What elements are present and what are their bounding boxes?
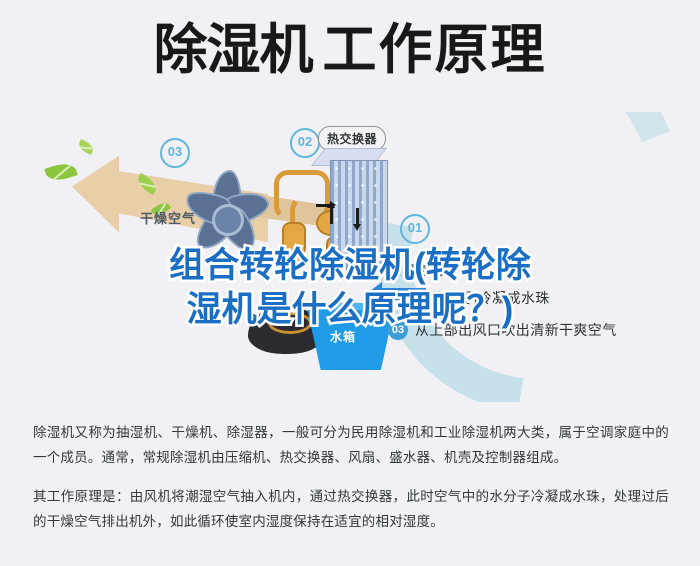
diagram-step-02-marker: 02 bbox=[290, 128, 320, 158]
leaf-icon bbox=[77, 139, 96, 155]
process-step-list: 02 过蒸发器)冷凝成水珠 03 从上部出风口吹出清新干爽空气 bbox=[388, 288, 688, 352]
page-title-part2: 工作原理 bbox=[323, 20, 547, 80]
page-title: 除湿机工作原理 bbox=[154, 18, 547, 82]
fan-icon bbox=[168, 160, 278, 260]
fan-hub bbox=[212, 204, 244, 236]
compressor-ring bbox=[268, 312, 312, 334]
step-badge: 03 bbox=[388, 320, 408, 340]
article-body: 除湿机又称为抽湿机、干燥机、除湿器，一般可分为民用除湿机和工业除湿机两大类，属于… bbox=[33, 420, 669, 534]
page-title-part1: 除湿机 bbox=[154, 20, 313, 80]
humid-air-label: 潮湿空气 bbox=[388, 260, 444, 279]
body-paragraph-1: 除湿机又称为抽湿机、干燥机、除湿器，一般可分为民用除湿机和工业除湿机两大类，属于… bbox=[33, 420, 669, 470]
water-tank-label: 水箱 bbox=[330, 328, 356, 345]
diagram-step-01-marker: 01 bbox=[400, 214, 430, 244]
page-root: 除湿机工作原理 03 02 01 热交换器 干燥空气 潮湿空气 bbox=[0, 0, 700, 566]
coil-component bbox=[282, 222, 306, 256]
flow-arrow-down-icon bbox=[356, 208, 359, 224]
process-step-item: 02 过蒸发器)冷凝成水珠 bbox=[388, 288, 688, 308]
step-text: 过蒸发器)冷凝成水珠 bbox=[415, 288, 550, 308]
leaf-icon bbox=[44, 160, 77, 184]
flow-arrow-up-icon bbox=[330, 208, 333, 224]
body-paragraph-2: 其工作原理是：由风机将潮湿空气抽入机内，通过热交换器，此时空气中的水分子冷凝成水… bbox=[33, 484, 669, 534]
process-step-item: 03 从上部出风口吹出清新干爽空气 bbox=[388, 320, 688, 340]
step-text: 从上部出风口吹出清新干爽空气 bbox=[415, 320, 617, 340]
page-header: 除湿机工作原理 bbox=[0, 18, 700, 82]
dehumidifier-diagram: 03 02 01 热交换器 干燥空气 潮湿空气 bbox=[0, 112, 700, 402]
